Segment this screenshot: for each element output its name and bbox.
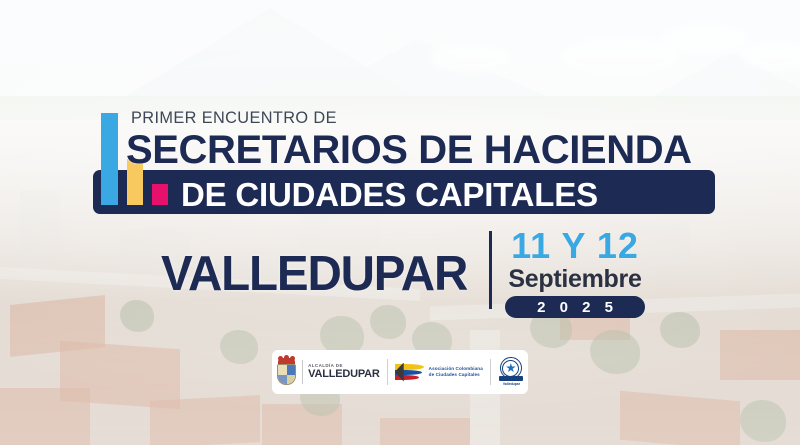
- coat-of-arms-shield-icon: [276, 358, 297, 386]
- emblem-banner-icon: [499, 376, 523, 381]
- event-date-year: 2 0 2 5: [532, 300, 618, 315]
- event-date-month: Septiembre: [505, 267, 645, 292]
- event-date-block: 11 Y 12 Septiembre 2 0 2 5: [505, 228, 645, 318]
- logo-strip-separator: [387, 359, 388, 385]
- alcaldia-label-line2: VALLEDUPAR: [308, 369, 380, 380]
- crown-mid-jewel-icon: [284, 355, 289, 360]
- logo-inner-divider: [302, 360, 303, 384]
- shield-quadrant: [287, 375, 296, 385]
- shield-body-icon: [277, 364, 296, 385]
- sponsor-logo-strip: ALCALDÍA DE VALLEDUPAR Asociación Colomb…: [272, 350, 528, 394]
- event-date-days: 11 Y 12: [505, 228, 645, 264]
- emblem-caption: Valledupar: [503, 382, 520, 386]
- asocapitales-wordmark: Asociación Colombiana de Ciudades Capita…: [429, 366, 483, 377]
- shield-quadrant: [287, 365, 296, 375]
- event-headline-line2: DE CIUDADES CAPITALES: [181, 176, 598, 214]
- shield-quadrant: [278, 375, 287, 385]
- event-headline-line1: SECRETARIOS DE HACIENDA: [126, 128, 692, 173]
- event-city-name: VALLEDUPAR: [161, 246, 467, 302]
- third-entity-logo: Valledupar: [498, 355, 524, 389]
- event-kicker: PRIMER ENCUENTRO DE: [131, 108, 337, 128]
- event-date-year-pill: 2 0 2 5: [505, 296, 645, 318]
- banner-content: PRIMER ENCUENTRO DE SECRETARIOS DE HACIE…: [0, 0, 800, 445]
- colombia-flag-swoosh-icon: [395, 363, 425, 382]
- bar-chart-blue-bar-icon: [101, 113, 118, 205]
- event-banner: PRIMER ENCUENTRO DE SECRETARIOS DE HACIE…: [0, 0, 800, 445]
- logo-strip-separator: [490, 359, 491, 385]
- alcaldia-wordmark: ALCALDÍA DE VALLEDUPAR: [308, 364, 380, 381]
- circular-star-emblem-icon: Valledupar: [498, 357, 524, 387]
- date-divider: [489, 231, 492, 309]
- asocapitales-label-line2: de Ciudades Capitales: [429, 372, 483, 378]
- asocapitales-logo: Asociación Colombiana de Ciudades Capita…: [395, 355, 483, 389]
- shield-quadrant: [278, 365, 287, 375]
- alcaldia-valledupar-logo: ALCALDÍA DE VALLEDUPAR: [276, 355, 380, 389]
- bar-chart-pink-bar-icon: [152, 184, 168, 205]
